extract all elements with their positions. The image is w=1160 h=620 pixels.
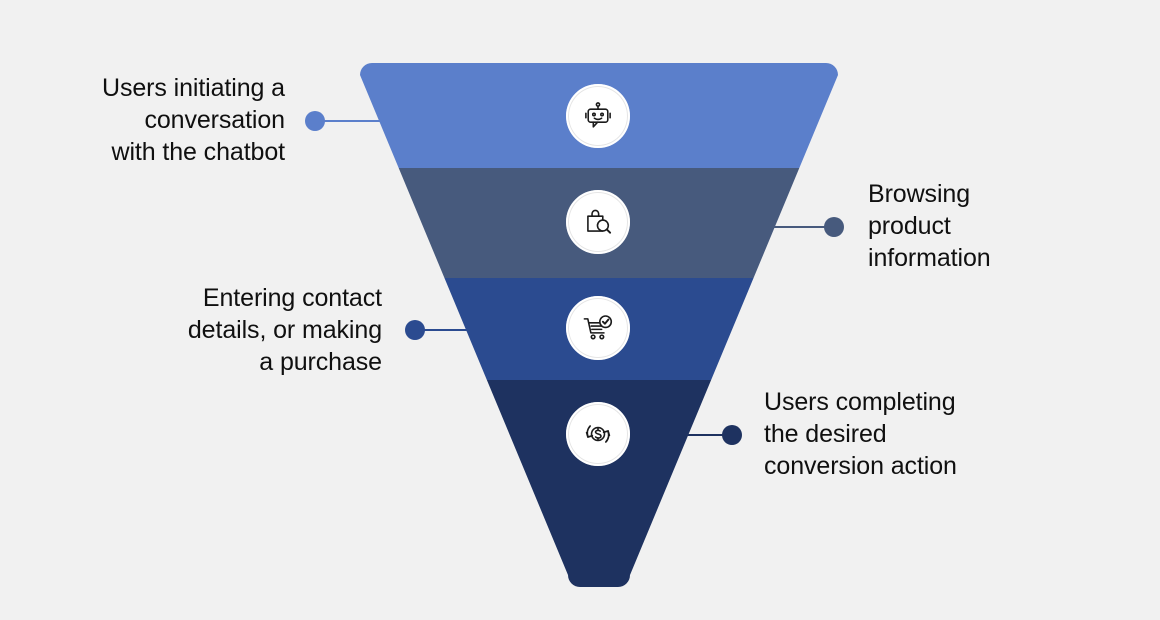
stage-1-icon-badge [566,84,630,148]
stage-1-label: Users initiating a conversation with the… [40,72,285,168]
stage-3-label: Entering contact details, or making a pu… [120,282,382,378]
stage-4-icon-badge [566,402,630,466]
stage-3-icon-badge [566,296,630,360]
dollar-refresh-icon [581,417,615,451]
connector-line-1 [320,120,387,122]
connector-line-3 [420,329,485,331]
connector-dot-3 [405,320,425,340]
cart-check-icon [581,311,615,345]
stage-2-label: Browsing product information [868,178,1128,274]
stage-4-label: Users completing the desired conversion … [764,386,1026,482]
connector-dot-1 [305,111,325,131]
connector-dot-4 [722,425,742,445]
connector-dot-2 [824,217,844,237]
funnel-diagram: Users initiating a conversation with the… [0,0,1160,620]
stage-2-icon-badge [566,190,630,254]
chatbot-icon [581,99,615,133]
bag-search-icon [581,205,615,239]
